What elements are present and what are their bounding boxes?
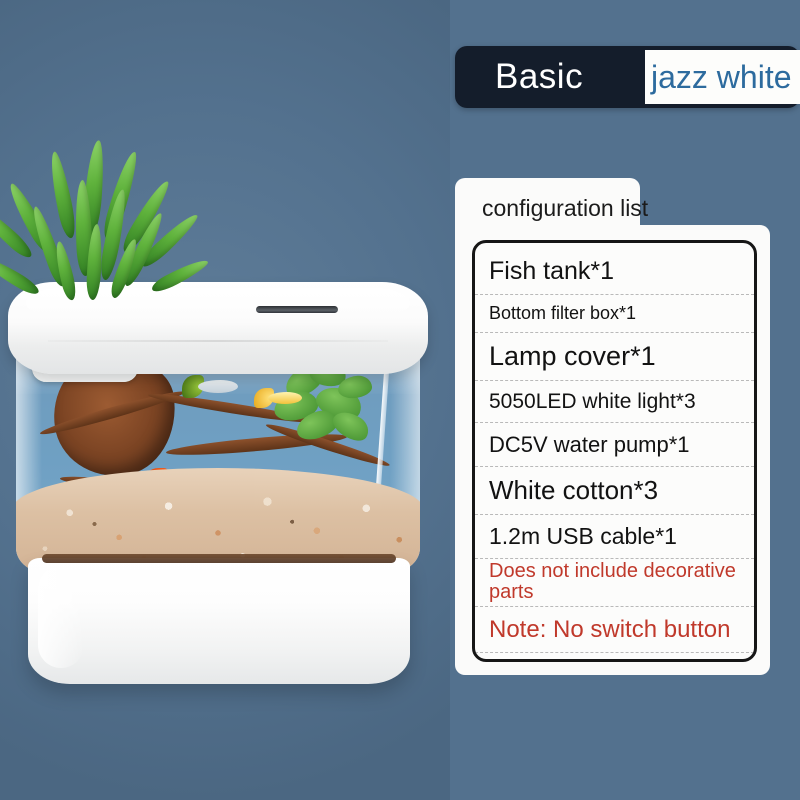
product-image-canvas: Basic jazz white configuration list Fish…	[0, 0, 800, 800]
fish-tank-assembly	[8, 282, 428, 682]
fish-yellow-guppy	[268, 392, 302, 404]
base-highlight	[38, 566, 84, 668]
variant-name-box: jazz white	[645, 50, 800, 104]
config-list-item: 1.2m USB cable*1	[475, 515, 754, 559]
product-photo	[0, 0, 450, 800]
top-planter-plant	[20, 140, 210, 305]
tank-base	[28, 558, 410, 684]
config-list-box: Fish tank*1Bottom filter box*1Lamp cover…	[472, 240, 757, 662]
config-list-item: Bottom filter box*1	[475, 295, 754, 333]
config-list-item: Note: No switch button	[475, 607, 754, 653]
header-title: Basic	[495, 57, 583, 97]
config-list-title: configuration list	[482, 195, 648, 222]
config-list-item: 5050LED white light*3	[475, 381, 754, 423]
config-list-item: DC5V water pump*1	[475, 423, 754, 467]
lid-seam	[48, 340, 388, 342]
config-list-item: Fish tank*1	[475, 249, 754, 295]
config-list-item: Lamp cover*1	[475, 333, 754, 381]
config-list-item: White cotton*3	[475, 467, 754, 515]
aquatic-plant	[266, 362, 386, 454]
variant-name-label: jazz white	[645, 59, 792, 96]
variant-header-badge: Basic jazz white	[455, 46, 800, 108]
lid-vent-slot	[256, 306, 338, 313]
base-trim	[42, 554, 396, 563]
fish-green-guppy	[198, 380, 238, 393]
config-list-item: Does not include decorative parts	[475, 559, 754, 607]
